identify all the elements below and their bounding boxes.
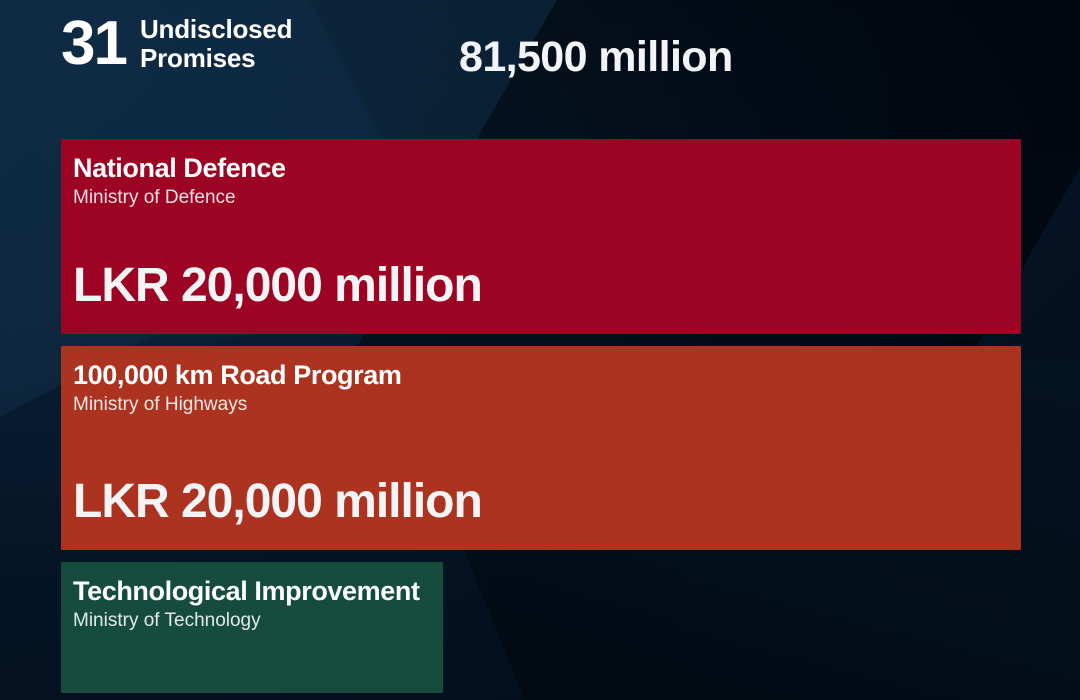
promise-card[interactable]: 100,000 km Road Program Ministry of High… [61, 346, 1021, 550]
promise-title: Technological Improvement [73, 576, 1021, 606]
promise-count-label: Undisclosed Promises [140, 15, 292, 72]
promise-card[interactable]: Technological Improvement Ministry of Te… [61, 562, 1021, 693]
infographic-canvas: 31 Undisclosed Promises 81,500 million N… [0, 0, 1080, 700]
header: 31 Undisclosed Promises 81,500 million [61, 14, 1021, 114]
promise-title: 100,000 km Road Program [73, 360, 1021, 390]
promise-card-content: National Defence Ministry of Defence LKR… [61, 139, 1021, 334]
promise-title: National Defence [73, 153, 1021, 183]
promise-card-content: Technological Improvement Ministry of Te… [61, 562, 1021, 693]
promise-count-label-line1: Undisclosed [140, 15, 292, 44]
promise-amount: LKR 20,000 million [73, 262, 1021, 310]
promise-card[interactable]: National Defence Ministry of Defence LKR… [61, 139, 1021, 334]
promise-count-block: 31 Undisclosed Promises [61, 14, 413, 74]
promise-count-label-line2: Promises [140, 44, 292, 73]
promise-ministry: Ministry of Technology [73, 609, 1021, 633]
promise-card-list: National Defence Ministry of Defence LKR… [61, 139, 1021, 693]
promise-ministry: Ministry of Defence [73, 186, 1021, 210]
promise-count-number: 31 [61, 14, 126, 74]
total-amount-value: 81,500 million [459, 36, 733, 79]
promise-ministry: Ministry of Highways [73, 393, 1021, 417]
promise-card-content: 100,000 km Road Program Ministry of High… [61, 346, 1021, 550]
promise-amount: LKR 20,000 million [73, 478, 1021, 526]
